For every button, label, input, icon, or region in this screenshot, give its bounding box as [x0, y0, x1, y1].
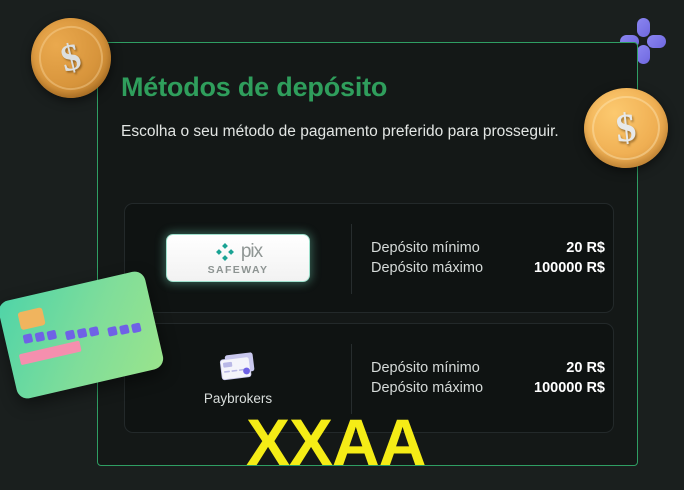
min-deposit-label: Depósito mínimo [371, 240, 480, 256]
page-title: Métodos de depósito [121, 72, 387, 103]
pix-logo-zone: pix SAFEWAY [125, 204, 351, 312]
plus-arm-right [647, 35, 666, 48]
coin-dollar-glyph: $ [614, 107, 638, 149]
min-deposit-row: Depósito mínimo 20 R$ [371, 240, 605, 256]
paybrokers-label: Paybrokers [204, 391, 272, 406]
watermark-text: XXAA [246, 409, 425, 475]
page-subtitle: Escolha o seu método de pagamento prefer… [121, 119, 571, 144]
min-deposit-label: Depósito mínimo [371, 360, 480, 376]
card-number-dot [89, 326, 100, 337]
method-divider [351, 344, 352, 414]
max-deposit-value: 100000 R$ [534, 380, 605, 396]
deposit-methods-panel: Métodos de depósito Escolha o seu método… [97, 42, 638, 466]
pix-wordmark: pix [241, 242, 262, 261]
card-number-dot [34, 331, 45, 342]
card-number-dot [119, 324, 130, 335]
credit-cards-icon [217, 350, 259, 384]
card-stripe [19, 341, 82, 366]
card-number-dot [65, 330, 76, 341]
card-number-dot [23, 333, 34, 344]
payment-method-pix[interactable]: pix SAFEWAY Depósito mínimo 20 R$ Depósi… [124, 203, 614, 313]
min-deposit-value: 20 R$ [566, 240, 605, 256]
pix-deposit-info: Depósito mínimo 20 R$ Depósito máximo 10… [371, 204, 615, 312]
max-deposit-value: 100000 R$ [534, 260, 605, 276]
pix-logo-row: pix [214, 241, 262, 263]
pix-logo-button[interactable]: pix SAFEWAY [166, 234, 310, 282]
min-deposit-row: Depósito mínimo 20 R$ [371, 360, 605, 376]
max-deposit-label: Depósito máximo [371, 260, 483, 276]
plus-arm-bottom [637, 45, 650, 64]
method-divider [351, 224, 352, 294]
card-chip [17, 307, 45, 330]
card-number-dot [131, 322, 142, 333]
max-deposit-row: Depósito máximo 100000 R$ [371, 380, 605, 396]
plus-arm-top [637, 18, 650, 37]
card-number-dot [77, 328, 88, 339]
min-deposit-value: 20 R$ [566, 360, 605, 376]
card-number-dot [46, 330, 57, 341]
max-deposit-row: Depósito máximo 100000 R$ [371, 260, 605, 276]
max-deposit-label: Depósito máximo [371, 380, 483, 396]
pix-diamond-icon [214, 241, 236, 263]
pix-safeway-label: SAFEWAY [208, 264, 269, 276]
coin-dollar-glyph: $ [57, 37, 85, 78]
card-number-dot [107, 326, 118, 337]
